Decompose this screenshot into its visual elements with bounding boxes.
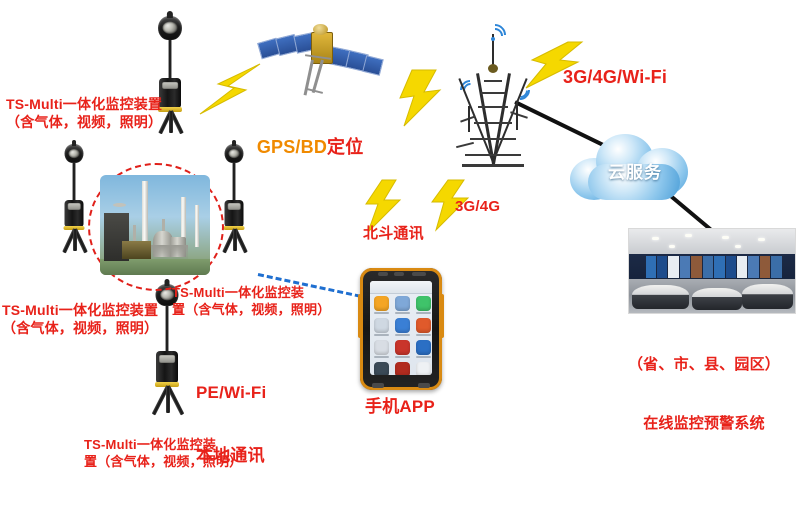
plant-structure [113, 203, 126, 207]
ceiling-light [652, 237, 659, 240]
device-display-panel [227, 203, 241, 210]
device-lens [163, 22, 178, 34]
video-wall-cell [646, 256, 656, 278]
phone-grip [439, 294, 444, 338]
tower-leg [476, 73, 495, 164]
app-icon-caption [374, 334, 389, 336]
label-local-comm-line1: PE/Wi-Fi [196, 383, 266, 404]
app-icon-caption [395, 312, 410, 314]
label-gps-latin: GPS/BD [257, 137, 327, 157]
plant-unit [122, 241, 151, 259]
video-wall-cell [703, 256, 713, 278]
operator-desk [692, 288, 742, 310]
satellite-dish [313, 24, 328, 35]
phone-app-icon-2[interactable] [395, 296, 410, 314]
device-leg [166, 386, 170, 413]
label-device-center: TS-Multi一体化监控装 置（含气体，视频，照明） [172, 285, 392, 318]
video-wall-cell [748, 256, 758, 278]
phone-app-icon-4[interactable] [374, 318, 389, 336]
tower-top-ball [488, 64, 498, 73]
device-body [156, 351, 178, 383]
device-display-panel [162, 82, 178, 90]
label-device-top: TS-Multi一体化监控装置 （含气体，视频，照明） [6, 96, 236, 132]
satellite-boom [312, 60, 324, 94]
satellite-icon [255, 12, 383, 108]
phone-app-icon-7[interactable] [374, 340, 389, 358]
device-leg [233, 229, 237, 251]
phone-top-button[interactable] [412, 272, 426, 276]
label-local-comm: PE/Wi-Fi 本地通讯 [196, 342, 266, 508]
plant-stack [195, 205, 199, 247]
app-icon-glyph [416, 296, 431, 311]
phone-app-icon-3[interactable] [416, 296, 431, 314]
device-sensor-head [65, 144, 84, 163]
ceiling-light [758, 238, 765, 241]
label-gps-cn: 定位 [327, 137, 363, 157]
operator-desk [632, 285, 688, 309]
ceiling-light [735, 245, 741, 248]
label-platform-line1: （省、市、县、园区） [604, 355, 804, 375]
app-icon-glyph [374, 340, 389, 355]
label-3g4g-wifi: 3G/4G/Wi-Fi [563, 66, 667, 89]
ceiling-light [685, 234, 692, 237]
tower-brace [481, 92, 505, 94]
tower-brace [462, 164, 524, 167]
app-icon-glyph [416, 318, 431, 333]
lightning-bolt-satellite-tower [396, 68, 450, 128]
video-wall-cell [680, 256, 690, 278]
device-body [225, 200, 244, 227]
tower-brace [474, 122, 512, 124]
app-icon-glyph [395, 318, 410, 333]
ceiling-light [722, 236, 729, 239]
diagram-canvas: 云服务 [0, 0, 806, 482]
label-phone-app: 手机APP [365, 396, 435, 418]
cloud-label: 云服务 [562, 158, 708, 183]
app-icon-caption [374, 356, 389, 358]
device-body [65, 200, 84, 227]
device-mast [169, 40, 172, 80]
label-3g4g: 3G/4G [455, 197, 500, 216]
operator-desk [742, 284, 793, 309]
control-room-photo [628, 228, 796, 314]
tower-brace [478, 106, 508, 108]
solar-panel [362, 55, 384, 76]
label-platform-line2: 在线监控预警系统 [604, 414, 804, 434]
app-icon-glyph [374, 362, 389, 375]
phone-app-icon-8[interactable] [395, 340, 410, 358]
ceiling-light [669, 245, 675, 248]
device-leg [73, 229, 77, 251]
phone-top-button[interactable] [378, 272, 388, 276]
phone-bottom-foot [418, 383, 430, 388]
label-device-bottom: TS-Multi一体化监控装 置（含气体，视频，照明） [84, 437, 304, 470]
phone-app-icon-5[interactable] [395, 318, 410, 336]
tower-antenna [516, 102, 518, 130]
cloud-service-icon: 云服务 [562, 128, 708, 206]
label-gps-positioning: GPS/BD定位 [236, 113, 363, 182]
app-icon-glyph [395, 362, 410, 375]
label-platform: （省、市、县、园区） 在线监控预警系统 [604, 316, 804, 472]
device-display-panel [159, 355, 175, 363]
app-icon-caption [395, 356, 410, 358]
tower-antenna [468, 106, 470, 132]
tower-brace [484, 80, 502, 82]
video-wall-cell [691, 256, 701, 278]
device-sensor-head [158, 16, 182, 40]
phone-top-button[interactable] [394, 272, 404, 276]
app-icon-glyph [416, 340, 431, 355]
phone-app-icon-12[interactable] [416, 362, 431, 375]
phone-app-icon-11[interactable] [395, 362, 410, 375]
control-desks [629, 279, 795, 313]
video-wall-cell [726, 256, 736, 278]
app-icon-caption [416, 356, 431, 358]
video-wall-cell [657, 256, 667, 278]
chemical-plant-photo [100, 175, 210, 275]
app-icon-caption [416, 312, 431, 314]
label-beidou-comm: 北斗通讯 [363, 224, 424, 243]
phone-app-icon-6[interactable] [416, 318, 431, 336]
app-icon-glyph [395, 296, 410, 311]
app-icon-caption [395, 334, 410, 336]
tower-brace [465, 154, 521, 156]
tower-antenna-arm [456, 142, 474, 148]
video-wall-cell [668, 256, 678, 278]
phone-bottom-foot [372, 383, 384, 388]
signal-wave-dot [491, 37, 495, 41]
video-wall-cell [737, 256, 747, 278]
label-local-comm-line2: 本地通讯 [196, 446, 266, 467]
video-wall [646, 256, 782, 278]
tower-brace [470, 138, 516, 140]
plant-stack [142, 181, 149, 243]
phone-app-icon-10[interactable] [374, 362, 389, 375]
plant-unit [151, 245, 188, 259]
video-wall-cell [714, 256, 724, 278]
app-icon-glyph [374, 318, 389, 333]
plant-ground [100, 259, 210, 275]
phone-app-icon-9[interactable] [416, 340, 431, 358]
device-mast [73, 162, 76, 202]
device-lens [68, 149, 80, 159]
device-display-panel [67, 203, 81, 210]
room-ceiling [629, 229, 795, 254]
app-icon-glyph [395, 340, 410, 355]
video-wall-cell [760, 256, 770, 278]
app-icon-caption [416, 334, 431, 336]
video-wall-cell [771, 256, 781, 278]
app-icon-glyph [416, 362, 431, 375]
